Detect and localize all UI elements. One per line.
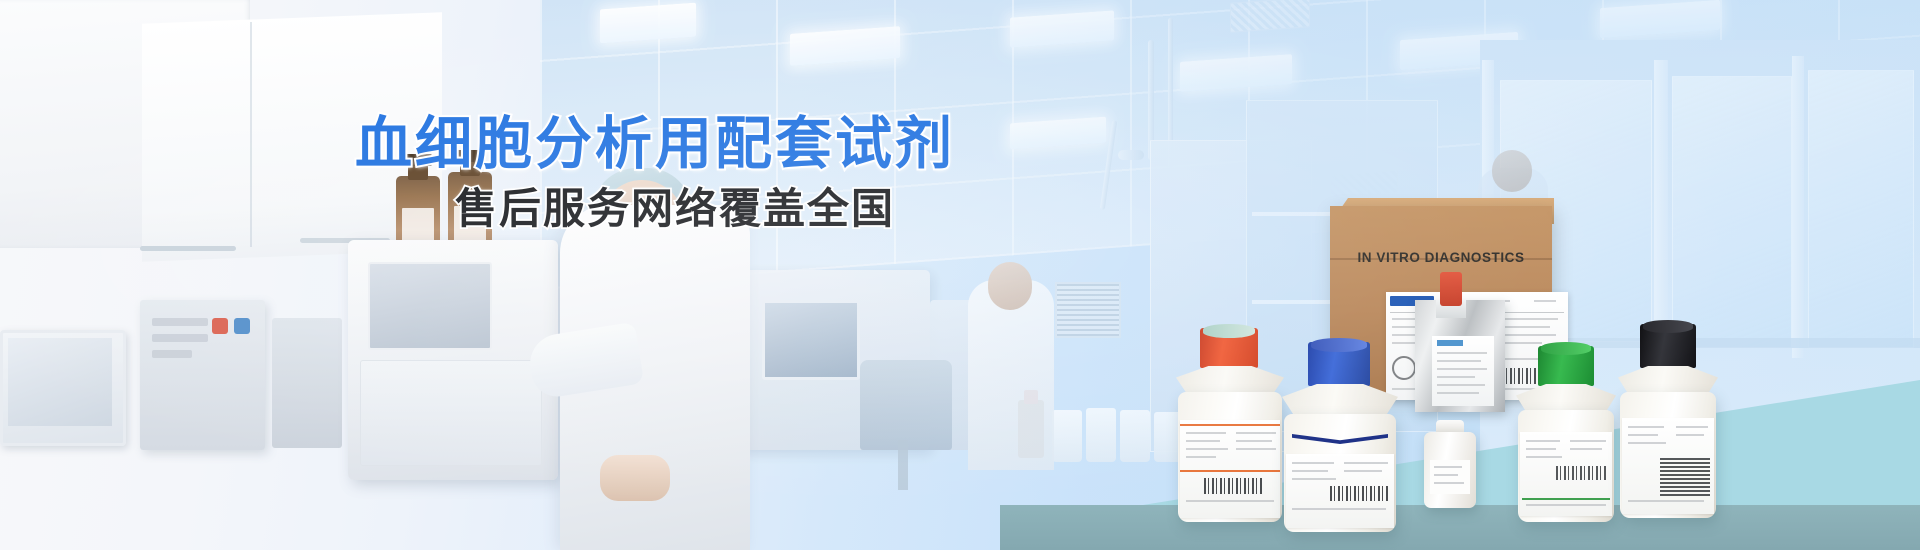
page-subtitle: 售后服务网络覆盖全国	[455, 175, 895, 236]
lab-reagent-banner: IN VITRO DIAGNOSTICS	[0, 0, 1920, 550]
label-text-line	[1344, 462, 1388, 464]
technician-hand	[600, 455, 670, 501]
monitor-screen	[8, 338, 112, 426]
bottle-cap-seal	[1643, 320, 1693, 333]
reagent-jug	[1120, 410, 1150, 462]
label-text-line	[1434, 474, 1458, 476]
reagent-pouch-label	[1432, 336, 1494, 406]
window-mullion	[1654, 60, 1668, 360]
label-text-line	[1437, 352, 1487, 354]
label-text-line	[1437, 392, 1479, 394]
ceiling-light-panel	[600, 3, 696, 44]
reagent-jug	[1086, 408, 1116, 462]
wall-vent-grille	[1055, 282, 1121, 338]
label-barcode	[1330, 486, 1390, 501]
label-text-line	[1628, 426, 1664, 428]
label-text-line	[1570, 448, 1602, 450]
instrument-module	[272, 318, 342, 448]
mid-room-analyzer-screen	[762, 300, 860, 380]
label-text-line	[1186, 440, 1220, 442]
label-text-line	[1292, 462, 1334, 464]
label-stripe	[1180, 424, 1280, 426]
label-text-line	[1236, 440, 1272, 442]
pouch-label-accent	[1437, 340, 1463, 346]
reagent-pouch-cap	[1440, 272, 1462, 306]
label-text-line	[1526, 504, 1606, 506]
label-text-line	[1186, 456, 1216, 458]
label-text-line	[1292, 470, 1328, 472]
lab-chair-post	[898, 440, 908, 490]
label-text-line	[1570, 440, 1606, 442]
background-technician-head	[988, 262, 1032, 310]
cabinet-handle	[140, 246, 236, 251]
label-text-line	[1437, 384, 1485, 386]
label-text-line	[1292, 508, 1386, 510]
label-text-line	[1526, 448, 1556, 450]
label-barcode	[1556, 466, 1608, 480]
label-text-line	[1186, 432, 1226, 434]
label-text-line	[1292, 478, 1336, 480]
label-stripe	[1180, 470, 1280, 472]
label-text-line	[1344, 470, 1382, 472]
instrument-slot	[152, 334, 208, 342]
instrument-slot	[152, 318, 208, 326]
label-text-line	[1186, 448, 1228, 450]
label-text-line	[1628, 434, 1658, 436]
label-text-line	[1236, 448, 1276, 450]
window-mullion	[1792, 56, 1804, 358]
page-title: 血细胞分析用配套试剂	[355, 98, 955, 180]
shipping-box-label-text: IN VITRO DIAGNOSTICS	[1330, 250, 1552, 265]
label-text-line	[1437, 360, 1481, 362]
analyzer-access-door	[360, 360, 542, 466]
certification-mark	[1392, 356, 1416, 380]
lab-chair	[860, 360, 952, 450]
label-text-line	[1434, 466, 1462, 468]
analyzer-display-panel	[368, 262, 492, 350]
label-barcode	[1204, 478, 1262, 494]
label-text-line	[1236, 432, 1276, 434]
bottle-cap-seal	[1203, 324, 1255, 338]
cabinet-seam	[250, 22, 252, 247]
instrument-slot	[152, 350, 192, 358]
label-text-line	[1628, 500, 1704, 502]
label-text-line	[1526, 440, 1560, 442]
label-text-line	[1434, 482, 1464, 484]
label-text-line	[1676, 426, 1708, 428]
label-text-line	[1676, 434, 1704, 436]
glass-panel	[1672, 76, 1792, 348]
label-volume-line	[1534, 300, 1556, 302]
label-text-line	[1526, 456, 1562, 458]
instrument-indicator	[212, 318, 228, 334]
right-technician-head	[1492, 150, 1532, 192]
label-stripe	[1522, 498, 1610, 500]
bottle-cap-seal	[1311, 338, 1367, 352]
label-text-line	[1628, 442, 1666, 444]
bottle-label	[1180, 420, 1280, 518]
lab-table-edge	[1000, 505, 1920, 550]
bottle-cap-seal	[1541, 342, 1591, 355]
label-barcode	[1660, 456, 1710, 496]
ceiling-vent	[1230, 0, 1310, 33]
label-text-line	[1437, 368, 1487, 370]
label-text-line	[1186, 500, 1274, 502]
reagent-jug	[1052, 410, 1082, 462]
ceiling-pendant-joint	[1118, 150, 1144, 160]
instrument-indicator	[234, 318, 250, 334]
label-text-line	[1437, 376, 1475, 378]
glass-panel	[1808, 70, 1914, 348]
